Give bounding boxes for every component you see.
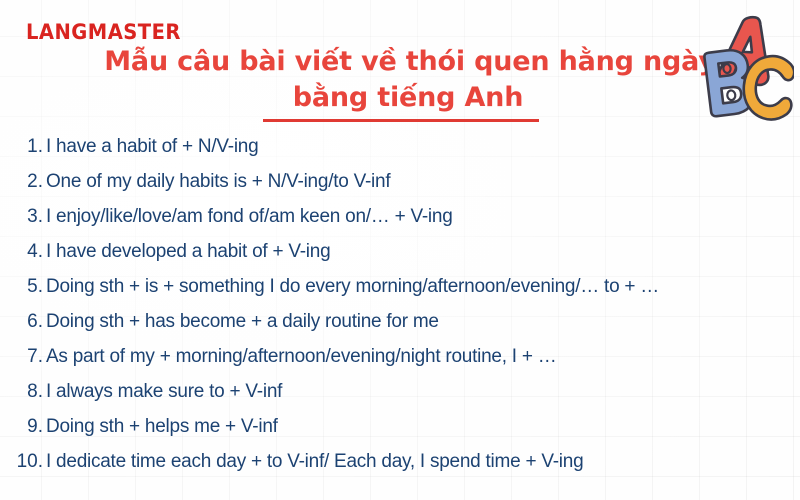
list-item-text: I have a habit of + N/V-ing (46, 136, 258, 158)
list-item: 10.I dedicate time each day + to V-inf/ … (0, 451, 800, 486)
abc-letters-icon (690, 6, 794, 124)
list-item-number: 4. (0, 241, 46, 263)
list-item-number: 10. (0, 451, 46, 473)
list-item-number: 7. (0, 346, 46, 368)
list-item: 6.Doing sth + has become + a daily routi… (0, 311, 800, 346)
title-underline (263, 119, 539, 122)
infographic-page: LANGMASTER Mẫu câu bài viết về thói quen… (0, 0, 800, 500)
list-item-text: As part of my + morning/afternoon/evenin… (46, 346, 556, 368)
list-item: 2.One of my daily habits is + N/V-ing/to… (0, 171, 800, 206)
list-item-number: 2. (0, 171, 46, 193)
list-item-text: Doing sth + has become + a daily routine… (46, 311, 439, 333)
list-item-number: 1. (0, 136, 46, 158)
list-item-text: I always make sure to + V-inf (46, 381, 282, 403)
page-title-line-1: Mẫu câu bài viết về thói quen hằng ngày (0, 44, 790, 80)
list-item: 5.Doing sth + is + something I do every … (0, 276, 800, 311)
list-item-number: 9. (0, 416, 46, 438)
list-item-number: 5. (0, 276, 46, 298)
list-item-number: 6. (0, 311, 46, 333)
list-item-text: I enjoy/like/love/am fond of/am keen on/… (46, 206, 453, 228)
sentence-pattern-list: 1.I have a habit of + N/V-ing2.One of my… (0, 136, 800, 486)
page-title-line-2: bằng tiếng Anh (0, 80, 790, 116)
list-item-text: I dedicate time each day + to V-inf/ Eac… (46, 451, 583, 473)
list-item: 4.I have developed a habit of + V-ing (0, 241, 800, 276)
list-item: 1.I have a habit of + N/V-ing (0, 136, 800, 171)
langmaster-logo: LANGMASTER (26, 20, 181, 44)
list-item-text: Doing sth + is + something I do every mo… (46, 276, 659, 298)
list-item: 9.Doing sth + helps me + V-inf (0, 416, 800, 451)
list-item-text: I have developed a habit of + V-ing (46, 241, 330, 263)
page-title: Mẫu câu bài viết về thói quen hằng ngày … (0, 44, 800, 116)
list-item: 3.I enjoy/like/love/am fond of/am keen o… (0, 206, 800, 241)
list-item: 8.I always make sure to + V-inf (0, 381, 800, 416)
list-item-text: Doing sth + helps me + V-inf (46, 416, 278, 438)
list-item: 7.As part of my + morning/afternoon/even… (0, 346, 800, 381)
list-item-number: 3. (0, 206, 46, 228)
list-item-text: One of my daily habits is + N/V-ing/to V… (46, 171, 390, 193)
list-item-number: 8. (0, 381, 46, 403)
